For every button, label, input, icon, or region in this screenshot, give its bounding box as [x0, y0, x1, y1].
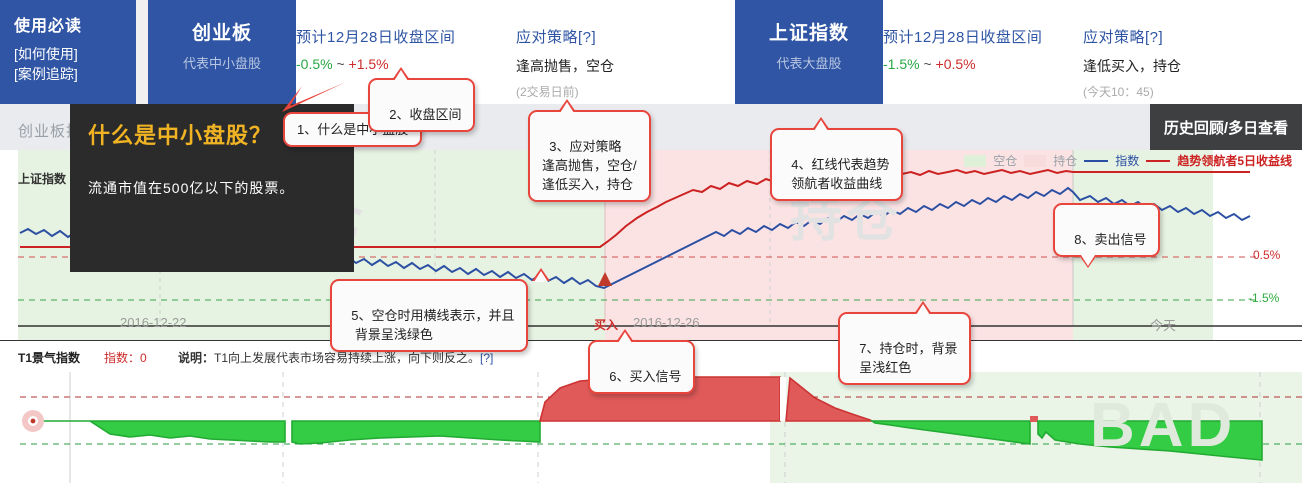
legend-line-trend-icon [1146, 160, 1170, 162]
callout-5: 5、空仓时用横线表示，并且 背景呈浅绿色 [330, 279, 528, 352]
close-range-value: -1.5% ~ +0.5% [883, 56, 1083, 72]
tooltip-body: 流通市值在500亿以下的股票。 [88, 178, 336, 198]
callout-7-tail-icon [914, 301, 932, 314]
strategy-label[interactable]: 应对策略[?] [1083, 26, 1302, 47]
t1-help-icon[interactable]: [?] [480, 351, 493, 365]
callout-8-tail-icon [1079, 255, 1097, 268]
t1-desc-prefix: 说明： [178, 351, 214, 365]
strategy-block-b: 应对策略[?] 逢低买入，持仓 (今天10：45) [1083, 0, 1302, 104]
range-high: +0.5% [936, 56, 976, 72]
legend-label-trend: 趋势领航者5日收益线 [1177, 152, 1292, 169]
how-to-use-link[interactable]: [如何使用] [14, 44, 122, 64]
legend-label-holding: 持仓 [1053, 152, 1077, 169]
index-name: 创业板 [148, 18, 296, 45]
callout-3: 3、应对策略 逢高抛售，空仓/ 逢低买入，持仓 [528, 110, 651, 202]
index-card-shangzheng[interactable]: 上证指数 代表大盘股 [735, 0, 883, 104]
top-header-bar: 使用必读 [如何使用] [案例追踪] 创业板 代表中小盘股 预计12月28日收盘… [0, 0, 1302, 104]
strategy-timestamp: (今天10：45) [1083, 83, 1302, 100]
close-range-label: 预计12月28日收盘区间 [296, 26, 516, 47]
t1-watermark-bad: BAD [1090, 390, 1236, 461]
strategy-block-a: 应对策略[?] 逢高抛售，空仓 (2交易日前) [516, 0, 735, 104]
buy-signal-label: 买入 [594, 316, 618, 333]
range-low: -1.5% [883, 56, 920, 72]
case-tracking-link[interactable]: [案例追踪] [14, 64, 122, 84]
range-tilde: ~ [923, 56, 931, 72]
must-read-card: 使用必读 [如何使用] [案例追踪] [0, 0, 136, 104]
t1-title: T1景气指数 [18, 349, 80, 366]
index-name: 上证指数 [735, 18, 883, 45]
callout-3-tail-icon [558, 99, 576, 112]
x-axis-label-3: 今天 [1150, 315, 1176, 334]
strategy-timestamp: (2交易日前) [516, 83, 735, 100]
must-read-title: 使用必读 [14, 12, 122, 36]
range-low: -0.5% [296, 56, 333, 72]
strategy-label[interactable]: 应对策略[?] [516, 26, 735, 47]
close-range-label: 预计12月28日收盘区间 [883, 26, 1083, 47]
callout-4-tail-icon [812, 117, 830, 130]
close-range-block-b: 预计12月28日收盘区间 -1.5% ~ +0.5% [883, 0, 1083, 104]
callout-1-pointer-icon [280, 76, 350, 116]
legend-swatch-holding [1024, 155, 1046, 167]
chart-title: 上证指数 [18, 170, 66, 187]
strategy-text: 逢低买入，持仓 [1083, 56, 1302, 76]
callout-2-tail-icon [392, 67, 410, 80]
callout-6: 6、买入信号 [588, 340, 695, 394]
legend-line-index-icon [1084, 160, 1108, 162]
x-axis-label-0: 2016-12-22 [120, 315, 187, 330]
strategy-text: 逢高抛售，空仓 [516, 56, 735, 76]
index-subtitle: 代表大盘股 [735, 53, 883, 72]
y-axis-label-upper: 0.5% [1253, 248, 1280, 262]
x-axis-label-2: 2016-12-26 [633, 315, 700, 330]
callout-7: 7、持仓时，背景 呈浅红色 [838, 312, 971, 385]
index-card-chuangyeban[interactable]: 创业板 代表中小盘股 [148, 0, 296, 104]
callout-6-tail-icon [616, 329, 634, 342]
legend-swatch-empty-position [964, 155, 986, 167]
legend-label-empty-position: 空仓 [993, 152, 1017, 169]
range-tilde: ~ [336, 56, 344, 72]
callout-4: 4、红线代表趋势 领航者收益曲线 [770, 128, 903, 201]
range-high: +1.5% [349, 56, 389, 72]
callout-8: 8、卖出信号 [1053, 203, 1160, 257]
index-subtitle: 代表中小盘股 [148, 53, 296, 72]
history-review-button[interactable]: 历史回顾/多日查看 [1150, 104, 1302, 150]
t1-desc-text: T1向上发展代表市场容易持续上涨，向下则反之。 [214, 351, 480, 365]
t1-index-value: 指数：0 [104, 349, 147, 366]
y-axis-label-lower: -1.5% [1248, 291, 1279, 305]
callout-5-tail-icon [532, 268, 550, 281]
legend-label-index: 指数 [1115, 152, 1139, 169]
chart-legend: 空仓 持仓 指数 趋势领航者5日收益线 [964, 152, 1292, 169]
callout-2: 2、收盘区间 [368, 78, 475, 132]
